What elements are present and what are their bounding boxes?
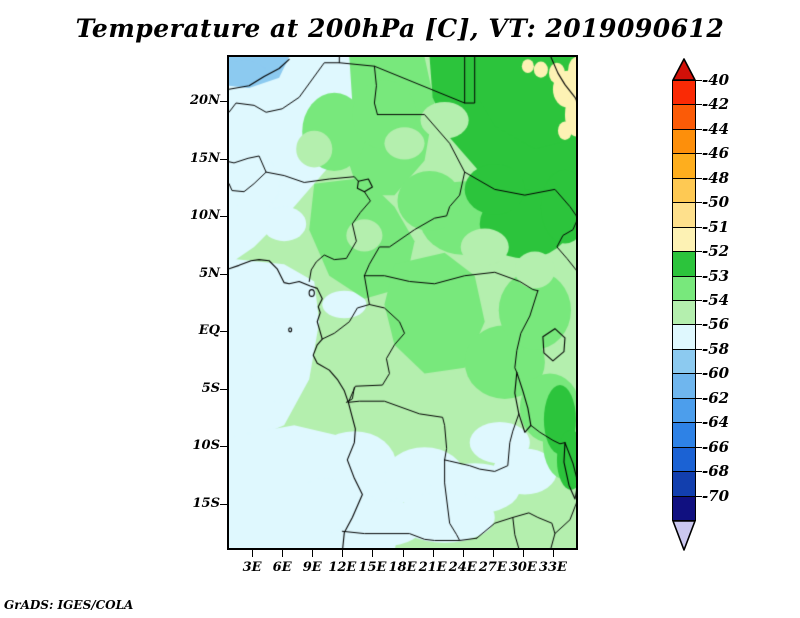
latitude-label-text: 15S <box>168 496 220 511</box>
colorbar-swatch <box>672 422 696 448</box>
latitude-label-text: 20N <box>168 93 220 108</box>
colorbar-swatch <box>672 251 696 277</box>
colorbar-swatch <box>672 349 696 375</box>
colorbar-label: -58 <box>702 340 729 358</box>
latitude-label: 10S <box>160 438 220 452</box>
colorbar-label: -44 <box>702 120 729 138</box>
colorbar-swatch <box>672 80 696 106</box>
colorbar-label: -60 <box>702 364 729 382</box>
map-plot-area <box>227 55 578 550</box>
temperature-colorbar: -40-42-44-46-48-50-51-52-53-54-56-58-60-… <box>672 80 696 520</box>
colorbar-swatch <box>672 104 696 130</box>
latitude-tick <box>220 504 227 505</box>
colorbar-swatch <box>672 300 696 326</box>
colorbar-swatch <box>672 153 696 179</box>
colorbar-label: -62 <box>702 389 729 407</box>
latitude-tick <box>220 331 227 332</box>
longitude-tick <box>433 550 434 557</box>
longitude-label-text: 33E <box>523 560 583 575</box>
colorbar-under-arrow <box>672 520 696 550</box>
colorbar-label: -50 <box>702 193 729 211</box>
colorbar-swatch <box>672 496 696 522</box>
colorbar-swatch <box>672 178 696 204</box>
latitude-tick <box>220 159 227 160</box>
latitude-tick <box>220 101 227 102</box>
colorbar-over-arrow <box>672 58 696 80</box>
longitude-tick <box>372 550 373 557</box>
longitude-tick <box>403 550 404 557</box>
longitude-tick <box>553 550 554 557</box>
latitude-tick <box>220 389 227 390</box>
latitude-label: 10N <box>160 208 220 222</box>
latitude-label: 15N <box>160 151 220 165</box>
latitude-label-text: 10N <box>168 208 220 223</box>
latitude-label: 20N <box>160 93 220 107</box>
latitude-label: 15S <box>160 496 220 510</box>
geographic-boundaries <box>229 57 578 550</box>
colorbar-label: -54 <box>702 291 729 309</box>
colorbar-label: -68 <box>702 462 729 480</box>
latitude-tick <box>220 274 227 275</box>
colorbar-swatch <box>672 471 696 497</box>
colorbar-swatch <box>672 202 696 228</box>
colorbar-label: -70 <box>702 487 729 505</box>
longitude-tick <box>282 550 283 557</box>
colorbar-label: -42 <box>702 95 729 113</box>
colorbar-swatch <box>672 276 696 302</box>
latitude-label: EQ <box>160 323 220 337</box>
colorbar-swatch <box>672 227 696 253</box>
colorbar-label: -64 <box>702 413 729 431</box>
longitude-tick <box>252 550 253 557</box>
colorbar-swatch <box>672 324 696 350</box>
colorbar-label: -51 <box>702 218 729 236</box>
latitude-label: 5S <box>160 381 220 395</box>
longitude-label: 33E <box>523 560 583 576</box>
colorbar-swatch <box>672 373 696 399</box>
colorbar-swatch <box>672 129 696 155</box>
page-title: Temperature at 200hPa [C], VT: 201909061… <box>0 14 800 43</box>
longitude-tick <box>463 550 464 557</box>
colorbar-label: -48 <box>702 169 729 187</box>
colorbar-swatch <box>672 398 696 424</box>
latitude-tick <box>220 446 227 447</box>
longitude-tick <box>312 550 313 557</box>
colorbar-label: -52 <box>702 242 729 260</box>
latitude-tick <box>220 216 227 217</box>
colorbar-label: -56 <box>702 315 729 333</box>
colorbar-label: -66 <box>702 438 729 456</box>
latitude-label-text: EQ <box>168 323 220 338</box>
latitude-label-text: 5S <box>168 381 220 396</box>
longitude-tick <box>493 550 494 557</box>
colorbar-swatch <box>672 447 696 473</box>
colorbar-label: -40 <box>702 71 729 89</box>
latitude-label: 5N <box>160 266 220 280</box>
longitude-tick <box>523 550 524 557</box>
longitude-tick <box>342 550 343 557</box>
latitude-label-text: 5N <box>168 266 220 281</box>
latitude-label-text: 10S <box>168 438 220 453</box>
colorbar-label: -46 <box>702 144 729 162</box>
latitude-label-text: 15N <box>168 151 220 166</box>
footer-credit: GrADS: IGES/COLA <box>4 598 133 612</box>
colorbar-label: -53 <box>702 267 729 285</box>
